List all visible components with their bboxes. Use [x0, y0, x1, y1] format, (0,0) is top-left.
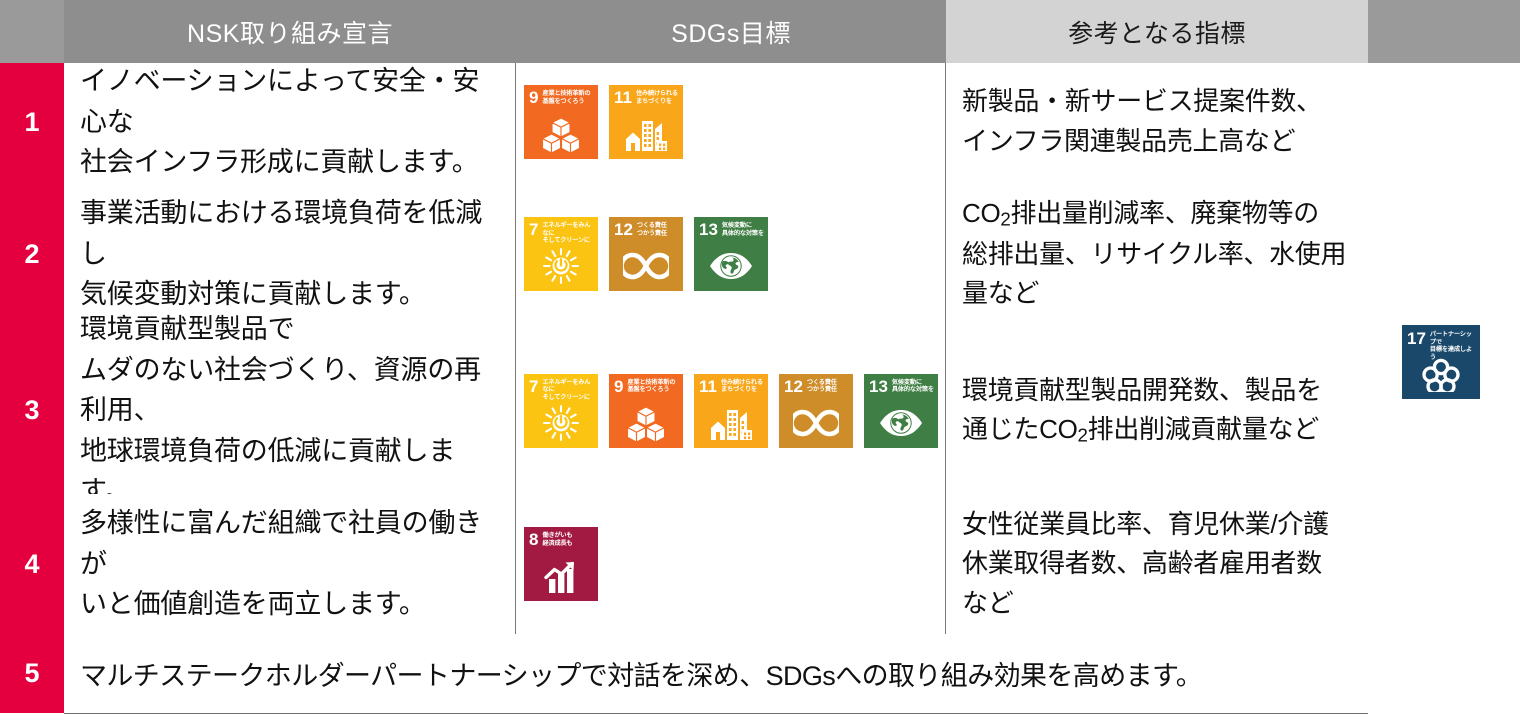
sdg-icon-list: 8働きがいも 経済成長も — [524, 527, 598, 601]
declaration-text: イノベーションによって安全・安心な社会インフラ形成に貢献します。 — [80, 61, 501, 183]
sdg-tile-heading: 9産業と技術革新の 基盤をつくろう — [529, 90, 594, 112]
sdg-number: 9 — [614, 379, 623, 394]
sdg-tile-heading: 12つくる責任 つかう責任 — [784, 379, 849, 401]
declaration-cell: 多様性に富んだ組織で社員の働きがいと価値創造を両立します。 — [64, 494, 516, 634]
table-row: 1イノベーションによって安全・安心な社会インフラ形成に貢献します。9産業と技術革… — [0, 63, 1368, 181]
sdg-tile-heading: 13気候変動に 具体的な対策を — [869, 379, 934, 401]
table-row: 4多様性に富んだ組織で社員の働きがいと価値創造を両立します。8働きがいも 経済成… — [0, 494, 1368, 634]
row-number-badge: 5 — [0, 634, 64, 713]
city-buildings-icon — [609, 112, 683, 156]
sdg-tile-12: 12つくる責任 つかう責任 — [779, 374, 853, 448]
indicator-text: 女性従業員比率、育児休業/介護休業取得者数、高齢者雇用者数など — [962, 505, 1329, 624]
header-cell-number — [0, 0, 64, 63]
sdg-tile-12: 12つくる責任 つかう責任 — [609, 217, 683, 291]
sdg-goals-cell: 8働きがいも 経済成長も — [516, 494, 946, 634]
header-cell-indicators: 参考となる指標 — [946, 0, 1368, 63]
declaration-text: 環境貢献型製品でムダのない社会づくり、資源の再利用、地球環境負荷の低減に貢献しま… — [80, 309, 501, 512]
sdg-tile-heading: 12つくる責任 つかう責任 — [614, 222, 679, 244]
sdg-tile-11: 11住み続けられる まちづくりを — [694, 374, 768, 448]
sdg-number: 8 — [529, 532, 538, 547]
sdg-number: 12 — [784, 379, 803, 394]
indicator-cell: 環境貢献型製品開発数、製品を通じたCO2排出削減貢献量など — [946, 327, 1368, 494]
table-header: NSK取り組み宣言 SDGs目標 参考となる指標 — [0, 0, 1520, 63]
declaration-cell: 環境貢献型製品でムダのない社会づくり、資源の再利用、地球環境負荷の低減に貢献しま… — [64, 327, 516, 494]
sdg-label: つくる責任 つかう責任 — [637, 222, 667, 237]
sdg-tile-7: 7エネルギーをみんなに そしてクリーンに — [524, 374, 598, 448]
sdg-tile-heading: 7エネルギーをみんなに そしてクリーンに — [529, 222, 594, 244]
sun-power-icon — [524, 244, 598, 288]
indicator-cell: 女性従業員比率、育児休業/介護休業取得者数、高齢者雇用者数など — [946, 494, 1368, 634]
sdg-label: エネルギーをみんなに そしてクリーンに — [542, 379, 594, 402]
sdg-number: 17 — [1407, 331, 1426, 346]
standalone-sdg-goal-17: 17 パートナーシップで 目標を達成しよう — [1402, 325, 1480, 399]
sdg-tile-17: 17 パートナーシップで 目標を達成しよう — [1402, 325, 1480, 399]
sdg-label: 働きがいも 経済成長も — [542, 532, 572, 547]
table-row: 3環境貢献型製品でムダのない社会づくり、資源の再利用、地球環境負荷の低減に貢献し… — [0, 327, 1368, 494]
declaration-cell: 事業活動における環境負荷を低減し気候変動対策に貢献します。 — [64, 181, 516, 327]
sdg-tile-heading: 11住み続けられる まちづくりを — [614, 90, 679, 112]
row-number-badge: 2 — [0, 181, 64, 327]
header-cell-declaration: NSK取り組み宣言 — [64, 0, 516, 63]
sdg-tile-11: 11住み続けられる まちづくりを — [609, 85, 683, 159]
declaration-cell: イノベーションによって安全・安心な社会インフラ形成に貢献します。 — [64, 63, 516, 181]
sdg-tile-13: 13気候変動に 具体的な対策を — [864, 374, 938, 448]
indicator-cell: 新製品・新サービス提案件数、インフラ関連製品売上高など — [946, 63, 1368, 181]
full-width-statement-cell: マルチステークホルダーパートナーシップで対話を深め、SDGsへの取り組み効果を高… — [64, 634, 1368, 713]
eye-earth-icon — [694, 244, 768, 288]
infinity-loop-icon — [779, 401, 853, 445]
sdg-tile-13: 13気候変動に 具体的な対策を — [694, 217, 768, 291]
table-bottom-edge — [64, 713, 1368, 714]
city-buildings-icon — [694, 401, 768, 445]
table-row-full-width: 5マルチステークホルダーパートナーシップで対話を深め、SDGsへの取り組み効果を… — [0, 634, 1368, 713]
sdg-tile-9: 9産業と技術革新の 基盤をつくろう — [609, 374, 683, 448]
indicator-cell: CO2排出量削減率、廃棄物等の総排出量、リサイクル率、水使用量など — [946, 181, 1368, 327]
growth-chart-icon — [524, 554, 598, 598]
sdg-commitment-table: NSK取り組み宣言 SDGs目標 参考となる指標 1イノベーションによって安全・… — [0, 0, 1520, 716]
sdg-number: 13 — [699, 222, 718, 237]
declaration-text: 事業活動における環境負荷を低減し気候変動対策に貢献します。 — [80, 193, 501, 315]
sdg-icon-list: 9産業と技術革新の 基盤をつくろう 11住み続けられる まちづくりを — [524, 85, 683, 159]
row-number-badge: 1 — [0, 63, 64, 181]
sdg-number: 11 — [614, 90, 632, 105]
indicator-text: 新製品・新サービス提案件数、インフラ関連製品売上高など — [962, 82, 1322, 161]
sdg-tile-heading: 7エネルギーをみんなに そしてクリーンに — [529, 379, 594, 401]
table-row: 2事業活動における環境負荷を低減し気候変動対策に貢献します。7エネルギーをみんな… — [0, 181, 1368, 327]
sdg-tile-heading: 9産業と技術革新の 基盤をつくろう — [614, 379, 679, 401]
sdg-tile-8: 8働きがいも 経済成長も — [524, 527, 598, 601]
sdg-tile-heading: 8働きがいも 経済成長も — [529, 532, 594, 554]
sun-power-icon — [524, 401, 598, 445]
sdg-icon-list: 7エネルギーをみんなに そしてクリーンに 12つくる責任 つかう責任 13気候変… — [524, 217, 768, 291]
sdg-number: 7 — [529, 222, 538, 237]
sdg-goals-cell: 7エネルギーをみんなに そしてクリーンに 9産業と技術革新の 基盤をつくろう 1… — [516, 327, 946, 494]
sdg-label: 気候変動に 具体的な対策を — [722, 222, 764, 237]
cubes-icon — [524, 112, 598, 156]
indicator-text: CO2排出量削減率、廃棄物等の総排出量、リサイクル率、水使用量など — [962, 194, 1346, 313]
sdg-tile-7: 7エネルギーをみんなに そしてクリーンに — [524, 217, 598, 291]
sdg-label: つくる責任 つかう責任 — [807, 379, 837, 394]
sdg-label: 住み続けられる まちづくりを — [721, 379, 763, 394]
sdg-label: 住み続けられる まちづくりを — [636, 90, 678, 105]
row-number-badge: 4 — [0, 494, 64, 634]
sdg-icon-list: 7エネルギーをみんなに そしてクリーンに 9産業と技術革新の 基盤をつくろう 1… — [524, 374, 938, 448]
sdg-label: 産業と技術革新の 基盤をつくろう — [627, 379, 675, 394]
sdg-number: 12 — [614, 222, 633, 237]
full-width-statement-text: マルチステークホルダーパートナーシップで対話を深め、SDGsへの取り組み効果を高… — [80, 654, 1202, 693]
infinity-loop-icon — [609, 244, 683, 288]
sdg-label: 産業と技術革新の 基盤をつくろう — [542, 90, 590, 105]
indicator-text: 環境貢献型製品開発数、製品を通じたCO2排出削減貢献量など — [962, 371, 1322, 451]
row-number-badge: 3 — [0, 327, 64, 494]
sdg-goals-cell: 9産業と技術革新の 基盤をつくろう 11住み続けられる まちづくりを — [516, 63, 946, 181]
sdg-tile-9: 9産業と技術革新の 基盤をつくろう — [524, 85, 598, 159]
partnership-rings-icon — [1402, 355, 1480, 395]
sdg-number: 7 — [529, 379, 538, 394]
sdg-number: 11 — [699, 379, 717, 394]
sdg-number: 13 — [869, 379, 888, 394]
header-cell-sdgs: SDGs目標 — [516, 0, 946, 63]
declaration-text: 多様性に富んだ組織で社員の働きがいと価値創造を両立します。 — [80, 503, 501, 625]
eye-earth-icon — [864, 401, 938, 445]
header-cell-spacer — [1368, 0, 1520, 63]
sdg-label: エネルギーをみんなに そしてクリーンに — [542, 222, 594, 245]
sdg-tile-heading: 11住み続けられる まちづくりを — [699, 379, 764, 401]
sdg-tile-heading: 13気候変動に 具体的な対策を — [699, 222, 764, 244]
sdg-number: 9 — [529, 90, 538, 105]
sdg-goals-cell: 7エネルギーをみんなに そしてクリーンに 12つくる責任 つかう責任 13気候変… — [516, 181, 946, 327]
sdg-label: 気候変動に 具体的な対策を — [892, 379, 934, 394]
cubes-icon — [609, 401, 683, 445]
